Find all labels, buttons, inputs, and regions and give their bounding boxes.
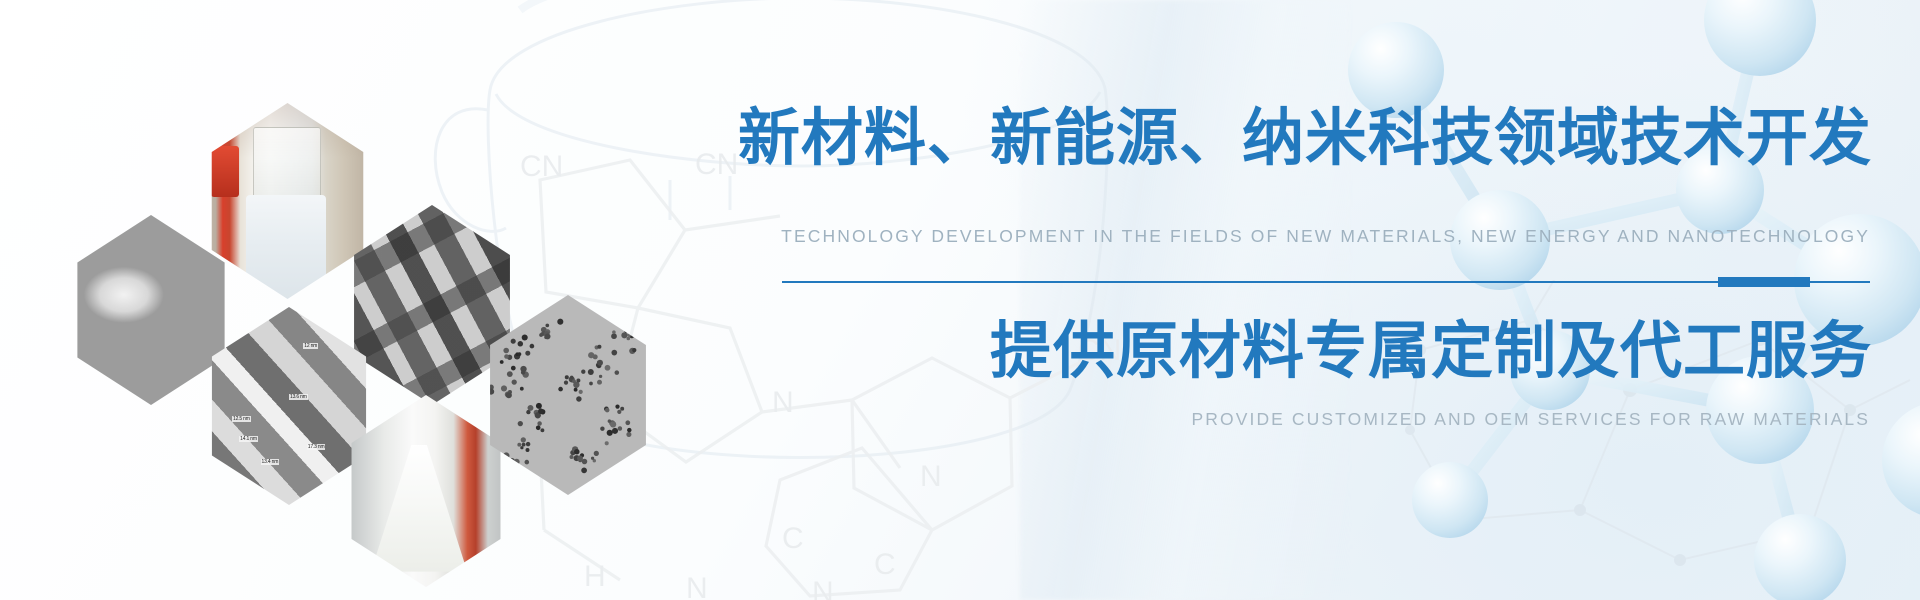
divider-rule xyxy=(782,281,1870,283)
headline-primary: 新材料、新能源、纳米科技领域技术开发 xyxy=(738,107,1872,169)
divider-accent-cap xyxy=(1718,277,1810,287)
headline-block: 新材料、新能源、纳米科技领域技术开发 TECHNOLOGY DEVELOPMEN… xyxy=(0,0,1920,600)
headline-secondary: 提供原材料专属定制及代工服务 xyxy=(990,320,1872,382)
subheadline-secondary: PROVIDE CUSTOMIZED AND OEM SERVICES FOR … xyxy=(1191,409,1870,430)
subheadline-primary: TECHNOLOGY DEVELOPMENT IN THE FIELDS OF … xyxy=(781,226,1870,247)
hero-banner: CN CN N CN N C H N C N xyxy=(0,0,1920,600)
